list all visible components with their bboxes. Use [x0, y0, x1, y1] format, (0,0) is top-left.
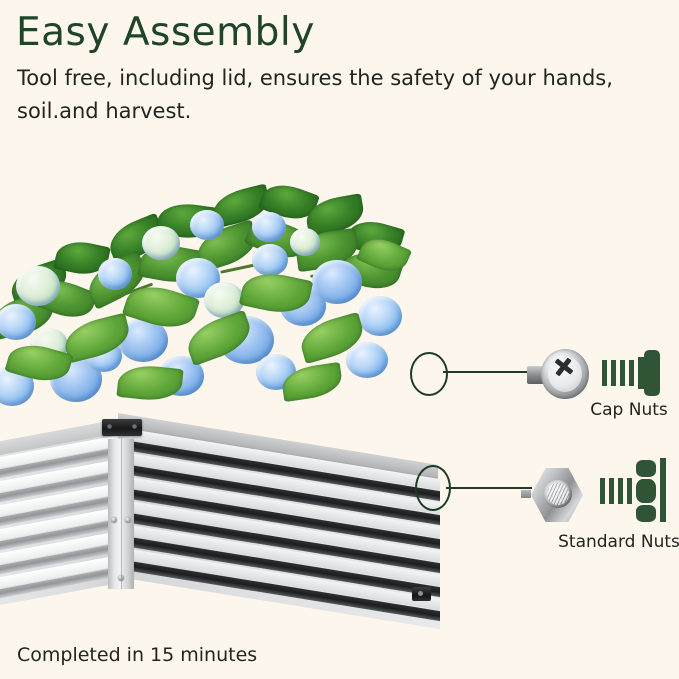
footer-caption: Completed in 15 minutes — [17, 644, 257, 666]
post-screw — [125, 517, 131, 523]
hydrangea-bloom — [190, 210, 224, 240]
callout-label-cap-nuts: Cap Nuts — [576, 400, 679, 420]
page-subtitle: Tool free, including lid, ensures the sa… — [17, 62, 617, 128]
hydrangea-plants — [0, 170, 410, 420]
hydrangea-bloom — [252, 244, 288, 276]
hydrangea-bloom — [0, 304, 36, 340]
post-screw — [118, 575, 124, 581]
edge-bracket-fastener — [412, 587, 431, 601]
hydrangea-bloom — [142, 226, 180, 260]
hydrangea-bloom — [358, 296, 402, 336]
hydrangea-bloom — [16, 266, 60, 306]
header-block: Easy Assembly Tool free, including lid, … — [16, 10, 656, 128]
leader-line-standard-nuts — [446, 487, 532, 489]
bed-corner-post — [108, 439, 134, 589]
infographic-page: Easy Assembly Tool free, including lid, … — [0, 0, 679, 679]
product-photo — [0, 170, 460, 600]
hydrangea-bloom — [252, 212, 286, 242]
standard-nut-schematic-icon — [598, 458, 674, 522]
leader-line-cap-nuts — [443, 371, 535, 373]
hydrangea-bloom — [312, 260, 362, 304]
hydrangea-bloom — [98, 258, 132, 290]
page-title: Easy Assembly — [16, 10, 656, 56]
cap-nut-photo — [527, 344, 589, 406]
cap-nut-schematic-icon — [600, 348, 670, 400]
post-screw — [111, 517, 117, 523]
callout-circle-cap-nuts — [410, 352, 448, 396]
corner-bracket — [102, 419, 142, 436]
hydrangea-bloom — [290, 228, 320, 256]
raised-garden-bed — [0, 395, 455, 585]
hex-nut-photo — [527, 466, 585, 524]
hydrangea-bloom — [346, 342, 388, 378]
callout-label-standard-nuts: Standard Nuts — [556, 532, 679, 552]
